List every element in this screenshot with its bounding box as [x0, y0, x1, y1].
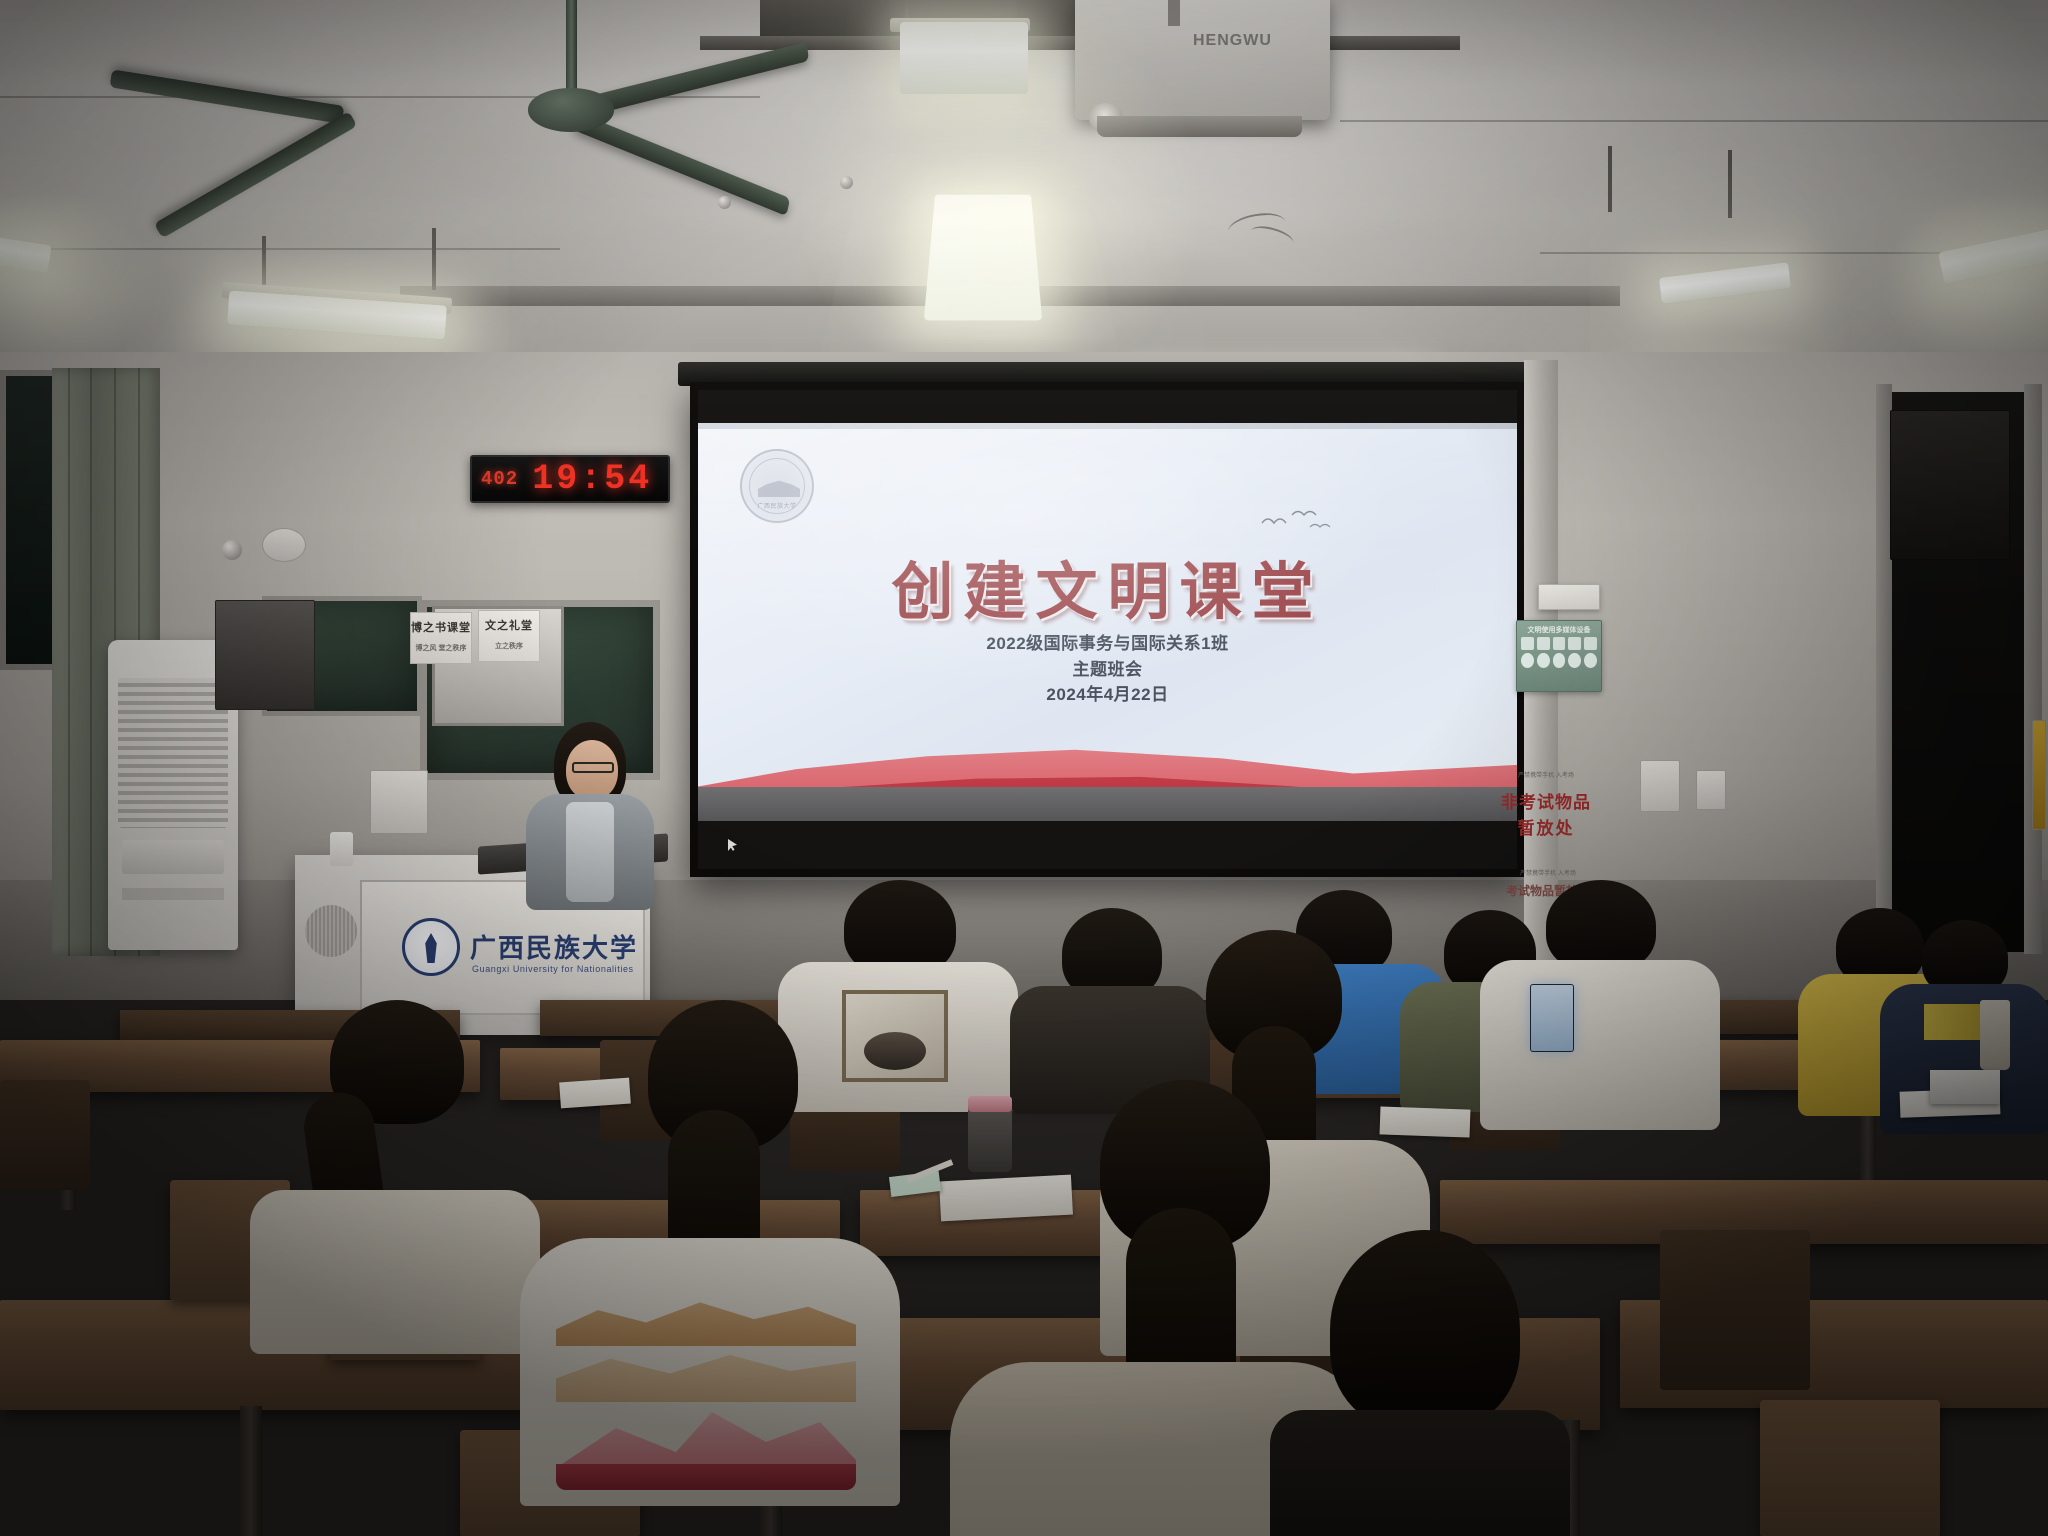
mouse-cursor[interactable]: [728, 839, 737, 851]
exam-notice-sign-upper: 严禁携带手机 入考场 非考试物品 暂放处: [1494, 770, 1598, 858]
clock-time: 19:54: [532, 459, 652, 499]
university-logo-icon: [402, 918, 460, 976]
student-front-print-tshirt: [520, 1000, 900, 1500]
fan-rod: [566, 0, 577, 96]
chair: [1660, 1230, 1810, 1390]
lectern-speaker-grille: [305, 905, 357, 957]
sprinkler-head: [840, 176, 853, 189]
paper-sheet: [939, 1175, 1073, 1222]
water-bottle: [1980, 1000, 2010, 1070]
student-shirt: [250, 1190, 540, 1354]
step-three-icon: [1553, 653, 1566, 668]
lamp-wire: [1608, 146, 1612, 212]
wall-banner: 博之书课堂 博之风 堂之秩序: [410, 612, 472, 664]
student-front-closest: [1270, 1230, 1570, 1536]
power-icon: [1521, 637, 1534, 650]
digital-clock: 402 19:54: [470, 455, 670, 503]
presenter: [520, 722, 660, 902]
multimedia-sign-heading: 文明使用多媒体设备: [1517, 625, 1601, 635]
presenter-shirt: [566, 802, 614, 902]
wall-fan-small: [262, 528, 306, 562]
presentation-slide: 广西民族大学 创建文明课堂 2022级国际事务与国际关系1班 主题班会 2024…: [698, 423, 1517, 821]
chair: [0, 1080, 90, 1190]
projector-brand-label: HENGWU: [1193, 32, 1272, 50]
wall-mounted-unit: [215, 600, 315, 710]
travel-mug-lid: [968, 1096, 1012, 1112]
projector-screen: 广西民族大学 创建文明课堂 2022级国际事务与国际关系1班 主题班会 2024…: [690, 382, 1525, 877]
ceiling-seam: [1340, 120, 2048, 122]
paper-sheet: [559, 1078, 631, 1109]
birds-decoration-icon: [1258, 505, 1338, 537]
tshirt-landscape-print: [556, 1290, 856, 1490]
exam-notice-sub-text: 暂放处: [1494, 814, 1598, 839]
ceiling-light: [900, 22, 1028, 94]
door-frame: [2024, 384, 2042, 954]
wall-switch-panel: [1640, 760, 1680, 812]
fan-hub: [528, 88, 614, 132]
desk-leg: [240, 1406, 262, 1536]
ac-vent-strip: [122, 888, 224, 900]
computer-icon: [1553, 637, 1566, 650]
wall-camera: [222, 540, 242, 560]
student-shirt: [1270, 1410, 1570, 1536]
step-two-icon: [1537, 653, 1550, 668]
student-mid-left: [250, 1000, 540, 1340]
screen-icon: [1584, 637, 1597, 650]
lectern-university-name-en: Guangxi University for Nationalities: [472, 964, 634, 974]
ac-control-panel: [122, 840, 224, 874]
paper-sheet: [1380, 1106, 1471, 1137]
step-five-icon: [1584, 653, 1597, 668]
wall-poster-small: [1538, 584, 1600, 610]
student-shirt: [1480, 960, 1720, 1130]
classroom-photo-scene: HENGWU: [0, 0, 2048, 1536]
multimedia-usage-sign: 文明使用多媒体设备: [1516, 620, 1602, 692]
ceiling-seam: [0, 248, 560, 250]
projector-mount: [1168, 0, 1180, 26]
wall-cabinet: [1890, 410, 2010, 560]
exam-notice-top-text: 严禁携带手机 入考场: [1494, 770, 1598, 779]
lamp-wire: [1728, 150, 1732, 218]
lectern-university-name-cn: 广西民族大学: [470, 928, 638, 965]
clock-room-number: 402: [481, 468, 518, 490]
ac-grille: [118, 678, 228, 828]
projector-lens: [1089, 103, 1123, 133]
chair: [1760, 1400, 1940, 1536]
wall-outlet-panel: [1696, 770, 1726, 810]
student-with-phone: [1480, 880, 1720, 1140]
projector-icon: [1568, 637, 1581, 650]
plug-icon: [1537, 637, 1550, 650]
wall-yellow-marker: [2032, 720, 2046, 830]
ceiling-light: [924, 195, 1042, 321]
wall-banner: 文之礼堂 立之秩序: [478, 610, 540, 662]
step-one-icon: [1521, 653, 1534, 668]
wall-electrical-box: [370, 770, 428, 834]
notebook: [1930, 1070, 2000, 1104]
multimedia-sign-icon-grid: [1521, 637, 1597, 668]
smartphone[interactable]: [1530, 984, 1574, 1052]
lamp-wire: [432, 228, 436, 290]
exam-notice-bottom-small: 严禁携带手机 入考场: [1498, 868, 1598, 877]
step-four-icon: [1568, 653, 1581, 668]
slide-screen-glare: [698, 423, 1517, 821]
student-hair: [1330, 1230, 1520, 1430]
presenter-glasses-icon: [572, 762, 614, 773]
exam-notice-main-text: 非考试物品: [1494, 788, 1598, 813]
student-hair: [1546, 880, 1656, 972]
lectern-cup: [330, 832, 353, 866]
ceiling-projector: HENGWU: [1075, 0, 1330, 120]
phone-screen: [1531, 985, 1573, 1051]
sprinkler-head: [718, 196, 731, 209]
